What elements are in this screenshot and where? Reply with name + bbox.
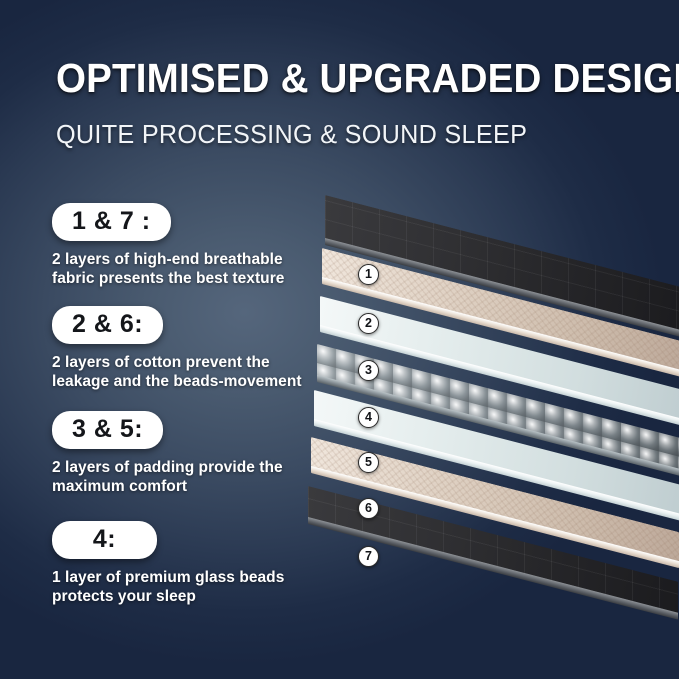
layer-badge-3-number: 3	[365, 364, 372, 377]
layer-badge-2: 2	[358, 313, 379, 334]
layer-badge-3: 3	[358, 360, 379, 381]
layer-badge-5: 5	[358, 452, 379, 473]
layer-badge-7-number: 7	[365, 550, 372, 563]
layer-badge-1: 1	[358, 264, 379, 285]
caption-pill-4: 4:	[52, 521, 157, 559]
caption-pill-2-and-6: 2 & 6:	[52, 306, 163, 344]
layer-badge-1-number: 1	[365, 268, 372, 281]
caption-block-2-and-6: 2 & 6: 2 layers of cotton prevent the le…	[52, 306, 304, 391]
caption-block-1-and-7: 1 & 7 : 2 layers of high-end breathable …	[52, 203, 304, 288]
caption-label-4: 4:	[72, 525, 137, 554]
layer-badge-2-number: 2	[365, 317, 372, 330]
layer-badge-5-number: 5	[365, 456, 372, 469]
layer-badge-7: 7	[358, 546, 379, 567]
caption-block-3-and-5: 3 & 5: 2 layers of padding provide the m…	[52, 411, 304, 496]
caption-label-1-and-7: 1 & 7 :	[72, 207, 151, 236]
caption-pill-1-and-7: 1 & 7 :	[52, 203, 171, 241]
layer-badge-6: 6	[358, 498, 379, 519]
caption-label-3-and-5: 3 & 5:	[72, 415, 143, 444]
layer-badge-4-number: 4	[365, 411, 372, 424]
caption-body-1-and-7: 2 layers of high-end breathable fabric p…	[52, 250, 304, 288]
caption-body-2-and-6: 2 layers of cotton prevent the leakage a…	[52, 353, 304, 391]
infographic-canvas: OPTIMISED & UPGRADED DESIGN QUITE PROCES…	[0, 0, 679, 679]
caption-label-2-and-6: 2 & 6:	[72, 310, 143, 339]
caption-body-4: 1 layer of premium glass beads protects …	[52, 568, 304, 606]
layer-badge-6-number: 6	[365, 502, 372, 515]
caption-block-4: 4: 1 layer of premium glass beads protec…	[52, 521, 304, 606]
caption-body-3-and-5: 2 layers of padding provide the maximum …	[52, 458, 304, 496]
caption-pill-3-and-5: 3 & 5:	[52, 411, 163, 449]
layer-badge-4: 4	[358, 407, 379, 428]
